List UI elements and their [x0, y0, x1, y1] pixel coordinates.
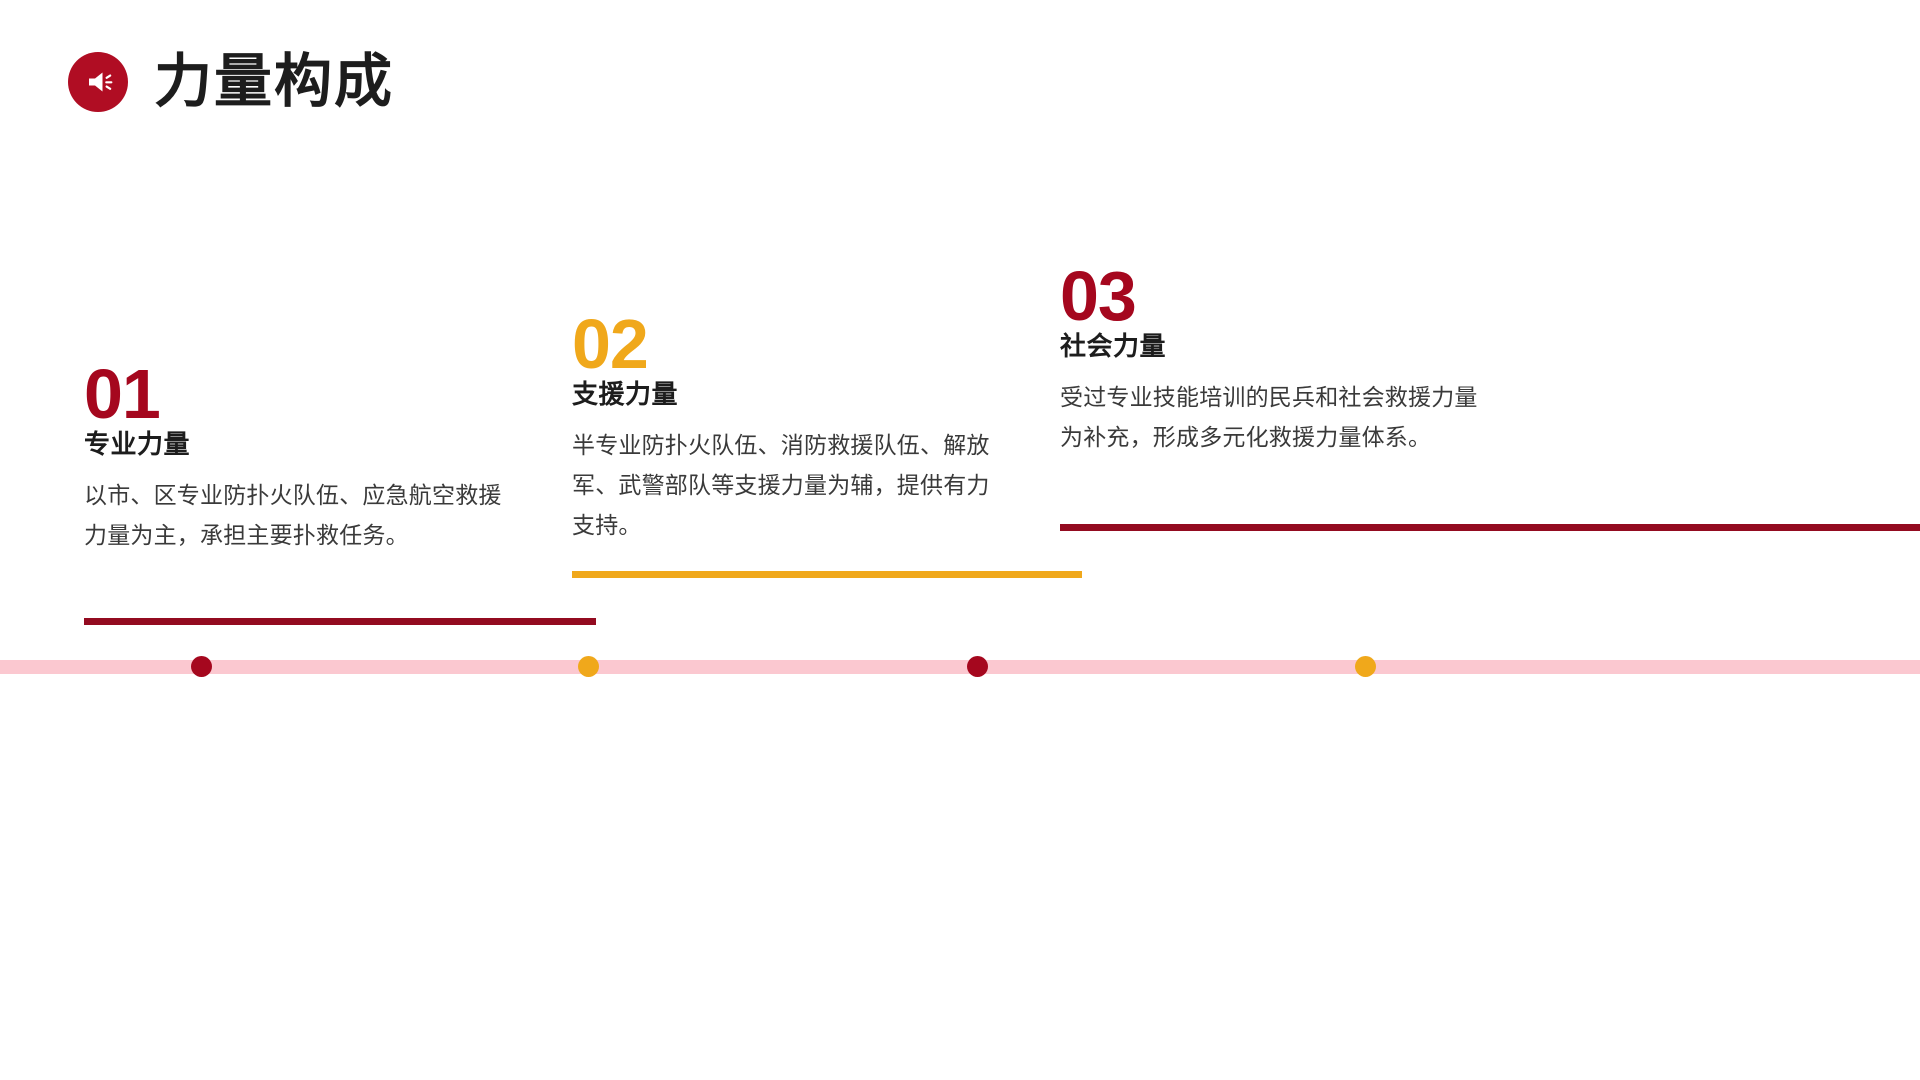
- block-underline-03: [1060, 524, 1920, 531]
- timeline-dot-4: [1355, 656, 1376, 677]
- block-body-02: 半专业防扑火队伍、消防救援队伍、解放军、武警部队等支援力量为辅，提供有力支持。: [572, 425, 997, 546]
- block-heading-01: 专业力量: [84, 428, 514, 461]
- block-number-02: 02: [572, 312, 997, 376]
- block-number-01: 01: [84, 362, 514, 426]
- block-body-01: 以市、区专业防扑火队伍、应急航空救援力量为主，承担主要扑救任务。: [84, 475, 514, 556]
- timeline-dot-2: [578, 656, 599, 677]
- block-underline-01: [84, 618, 596, 625]
- block-number-03: 03: [1060, 264, 1490, 328]
- timeline-dot-3: [967, 656, 988, 677]
- block-body-03: 受过专业技能培训的民兵和社会救援力量为补充，形成多元化救援力量体系。: [1060, 377, 1490, 458]
- slide-canvas: 力量构成 01 专业力量 以市、区专业防扑火队伍、应急航空救援力量为主，承担主要…: [0, 0, 1920, 1080]
- block-heading-03: 社会力量: [1060, 330, 1490, 363]
- content-block-03: 03 社会力量 受过专业技能培训的民兵和社会救援力量为补充，形成多元化救援力量体…: [1060, 264, 1490, 457]
- page-title: 力量构成: [154, 53, 394, 111]
- content-block-01: 01 专业力量 以市、区专业防扑火队伍、应急航空救援力量为主，承担主要扑救任务。: [84, 362, 514, 555]
- content-block-02: 02 支援力量 半专业防扑火队伍、消防救援队伍、解放军、武警部队等支援力量为辅，…: [572, 312, 997, 546]
- slide-header: 力量构成: [68, 52, 394, 112]
- block-heading-02: 支援力量: [572, 378, 997, 411]
- timeline-dot-1: [191, 656, 212, 677]
- timeline-track: [0, 660, 1920, 674]
- block-underline-02: [572, 571, 1082, 578]
- speaker-megaphone-icon: [68, 52, 128, 112]
